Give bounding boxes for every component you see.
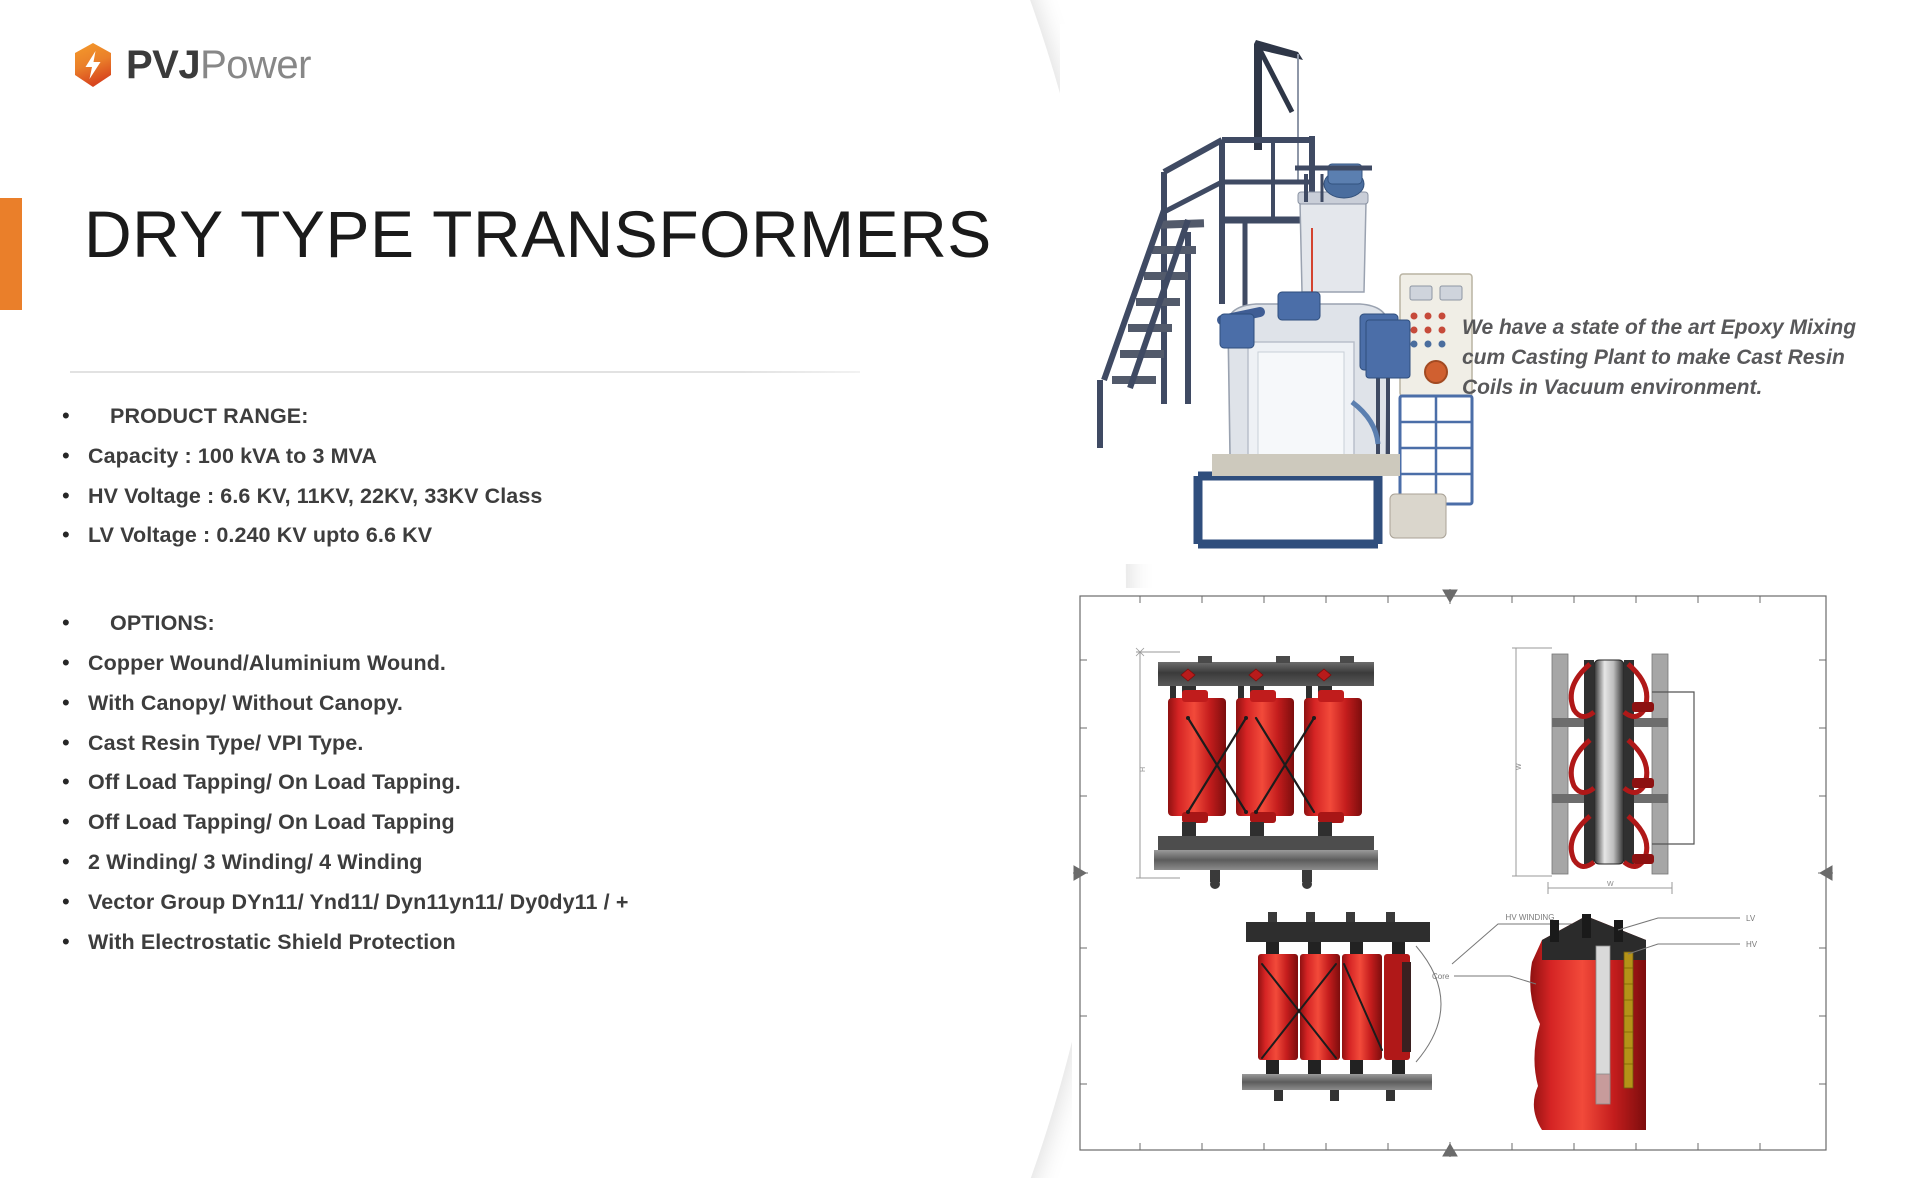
bullet-item: •2 Winding/ 3 Winding/ 4 Winding <box>62 850 862 876</box>
svg-text:LV: LV <box>1746 914 1756 923</box>
bullet-marker-icon: • <box>62 612 88 634</box>
photo-caption: We have a state of the art Epoxy Mixing … <box>1462 313 1862 402</box>
bullet-text-label: Capacity : 100 kVA to 3 MVA <box>88 444 377 470</box>
bullet-text-label: Off Load Tapping/ On Load Tapping <box>88 810 455 836</box>
slide-root: PVJPower DRY TYPE TRANSFORMERS •PRODUCT … <box>0 0 1920 1178</box>
bullet-text-label: Off Load Tapping/ On Load Tapping. <box>88 770 461 796</box>
bullet-item: •PRODUCT RANGE: <box>62 404 862 430</box>
bullet-item: •LV Voltage : 0.240 KV upto 6.6 KV <box>62 523 862 549</box>
bullet-text-label: Vector Group DYn11/ Ynd11/ Dyn11yn11/ Dy… <box>88 890 628 916</box>
bullet-text-label: HV Voltage : 6.6 KV, 11KV, 22KV, 33KV Cl… <box>88 484 542 510</box>
bullet-heading-label: PRODUCT RANGE: <box>88 404 308 430</box>
title-divider-rule <box>70 371 860 373</box>
svg-text:W: W <box>1516 763 1523 770</box>
brand-logo-text: PVJPower <box>126 45 311 85</box>
bullet-marker-icon: • <box>62 445 88 467</box>
hexagon-lightning-bolt-icon <box>72 42 114 88</box>
dry-type-transformer-technical-drawing: H <box>1072 588 1834 1158</box>
bullet-marker-icon: • <box>62 692 88 714</box>
bullet-marker-icon: • <box>62 485 88 507</box>
page-title: DRY TYPE TRANSFORMERS <box>84 196 992 272</box>
bullet-item: •Off Load Tapping/ On Load Tapping. <box>62 770 862 796</box>
epoxy-mixing-casting-plant-photo <box>1060 24 1480 564</box>
bullet-text-label: LV Voltage : 0.240 KV upto 6.6 KV <box>88 523 432 549</box>
bullet-item: •Vector Group DYn11/ Ynd11/ Dyn11yn11/ D… <box>62 890 862 916</box>
bullet-marker-icon: • <box>62 524 88 546</box>
bullet-item: •OPTIONS: <box>62 611 862 637</box>
bullet-marker-icon: • <box>62 851 88 873</box>
bullet-item: •Cast Resin Type/ VPI Type. <box>62 731 862 757</box>
bullet-item: •Off Load Tapping/ On Load Tapping <box>62 810 862 836</box>
brand-logo-bold: PVJ <box>126 43 200 87</box>
svg-text:Core: Core <box>1432 972 1450 981</box>
svg-text:H: H <box>1140 767 1147 772</box>
bullet-text-label: Copper Wound/Aluminium Wound. <box>88 651 446 677</box>
bullet-marker-icon: • <box>62 405 88 427</box>
bullet-item: •With Canopy/ Without Canopy. <box>62 691 862 717</box>
bullet-marker-icon: • <box>62 732 88 754</box>
svg-text:HV: HV <box>1746 940 1758 949</box>
bullet-marker-icon: • <box>62 811 88 833</box>
bullet-text-label: With Electrostatic Shield Protection <box>88 930 456 956</box>
bullet-marker-icon: • <box>62 931 88 953</box>
bullet-item: •With Electrostatic Shield Protection <box>62 930 862 956</box>
brand-logo: PVJPower <box>72 42 311 88</box>
bullet-marker-icon: • <box>62 771 88 793</box>
brand-logo-light: Power <box>200 43 311 87</box>
svg-text:W: W <box>1607 881 1614 888</box>
bullet-text-label: With Canopy/ Without Canopy. <box>88 691 403 717</box>
bullet-marker-icon: • <box>62 652 88 674</box>
bullet-heading-label: OPTIONS: <box>88 611 215 637</box>
feature-bullet-list: •PRODUCT RANGE:•Capacity : 100 kVA to 3 … <box>62 404 862 969</box>
bullet-marker-icon: • <box>62 891 88 913</box>
bullet-item: •HV Voltage : 6.6 KV, 11KV, 22KV, 33KV C… <box>62 484 862 510</box>
bullet-text-label: 2 Winding/ 3 Winding/ 4 Winding <box>88 850 423 876</box>
svg-text:HV WINDING: HV WINDING <box>1506 913 1555 922</box>
orange-accent-bar <box>0 198 22 310</box>
bullet-item: •Capacity : 100 kVA to 3 MVA <box>62 444 862 470</box>
bullet-text-label: Cast Resin Type/ VPI Type. <box>88 731 363 757</box>
bullet-item: •Copper Wound/Aluminium Wound. <box>62 651 862 677</box>
